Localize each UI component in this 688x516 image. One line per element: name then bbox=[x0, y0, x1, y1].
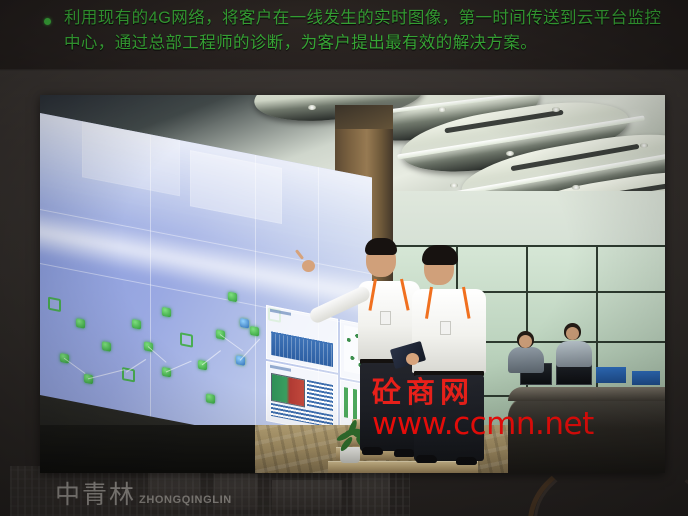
bullet-list: 利用现有的4G网络，将客户在一线发生的实时图像，第一时间传送到云平台监控中心，通… bbox=[40, 6, 670, 56]
panel-title-bar bbox=[270, 365, 291, 372]
brand-name-chinese: 中青林 bbox=[55, 482, 136, 508]
area-chart bbox=[271, 317, 333, 367]
engineer-observing-trousers bbox=[414, 375, 484, 461]
topology-node bbox=[102, 341, 111, 352]
background-block-4 bbox=[352, 472, 390, 516]
topology-node bbox=[228, 292, 237, 303]
bullet-dot-icon bbox=[44, 18, 51, 25]
engineer-pointing-shoe-left bbox=[362, 447, 383, 455]
seated-operator-1-face bbox=[519, 335, 532, 348]
background-block-3 bbox=[272, 480, 342, 510]
operator-console bbox=[508, 395, 665, 473]
brand-name-pinyin: ZHONGQINGLIN bbox=[139, 494, 232, 508]
topology-node bbox=[48, 297, 61, 313]
topology-link bbox=[126, 359, 147, 373]
presentation-slide: 利用现有的4G网络，将客户在一线发生的实时图像，第一时间传送到云平台监控中心，通… bbox=[0, 0, 688, 516]
topology-link bbox=[64, 358, 86, 374]
seated-operator-1-body bbox=[508, 347, 544, 373]
topology-link bbox=[202, 350, 221, 365]
console-monitor-3 bbox=[596, 367, 626, 383]
ceiling-spotlight-1 bbox=[438, 107, 446, 112]
engineer-observing-hand bbox=[406, 353, 419, 365]
panel-title-bar bbox=[270, 309, 291, 316]
console-monitor-4 bbox=[632, 371, 660, 385]
engineer-pointing-hair bbox=[365, 238, 397, 255]
topology-node bbox=[162, 307, 171, 318]
operator-console-top bbox=[508, 387, 665, 401]
topology-link bbox=[220, 334, 243, 351]
ceiling-spotlight-5 bbox=[450, 183, 458, 188]
ceiling-spotlight-7 bbox=[308, 105, 316, 110]
floor-dark-area bbox=[40, 425, 255, 473]
engineer-observing-hair bbox=[422, 245, 458, 265]
engineer-observing-badge bbox=[440, 321, 451, 335]
topology-link bbox=[166, 361, 192, 373]
topology-node bbox=[180, 332, 193, 348]
engineer-pointing-trousers bbox=[360, 363, 418, 451]
engineer-pointing-hand bbox=[302, 260, 315, 272]
engineer-pointing-badge bbox=[380, 311, 391, 325]
engineer-pointing-shoe-right bbox=[394, 449, 415, 457]
seated-operator-2-body bbox=[556, 341, 592, 367]
ceiling-spotlight-6 bbox=[640, 143, 648, 148]
topology-node bbox=[132, 319, 141, 330]
bar-chart-mini bbox=[307, 380, 333, 411]
list-item: 利用现有的4G网络，将客户在一线发生的实时图像，第一时间传送到云平台监控中心，通… bbox=[40, 6, 670, 56]
ceiling-spotlight-3 bbox=[506, 151, 514, 156]
topology-link bbox=[88, 369, 125, 379]
bullet-text: 利用现有的4G网络，将客户在一线发生的实时图像，第一时间传送到云平台监控中心，通… bbox=[64, 6, 670, 56]
topology-node bbox=[240, 318, 249, 329]
ceiling-spotlight-2 bbox=[552, 107, 560, 112]
seated-operator-2-face bbox=[566, 327, 579, 340]
brand-logo: 中青林 ZHONGQINGLIN bbox=[55, 482, 232, 508]
engineer-observing-shoe-left bbox=[416, 455, 437, 463]
topology-node bbox=[206, 393, 215, 404]
topology-node bbox=[76, 318, 85, 329]
topology-node bbox=[250, 326, 259, 337]
heatmap-chart bbox=[271, 373, 305, 408]
engineer-observing-shoe-right bbox=[456, 457, 477, 465]
ceiling-spotlight-4 bbox=[572, 185, 580, 190]
slide-photo: 砼商网 www.ccmn.net bbox=[40, 95, 665, 473]
background-seam bbox=[0, 69, 688, 71]
